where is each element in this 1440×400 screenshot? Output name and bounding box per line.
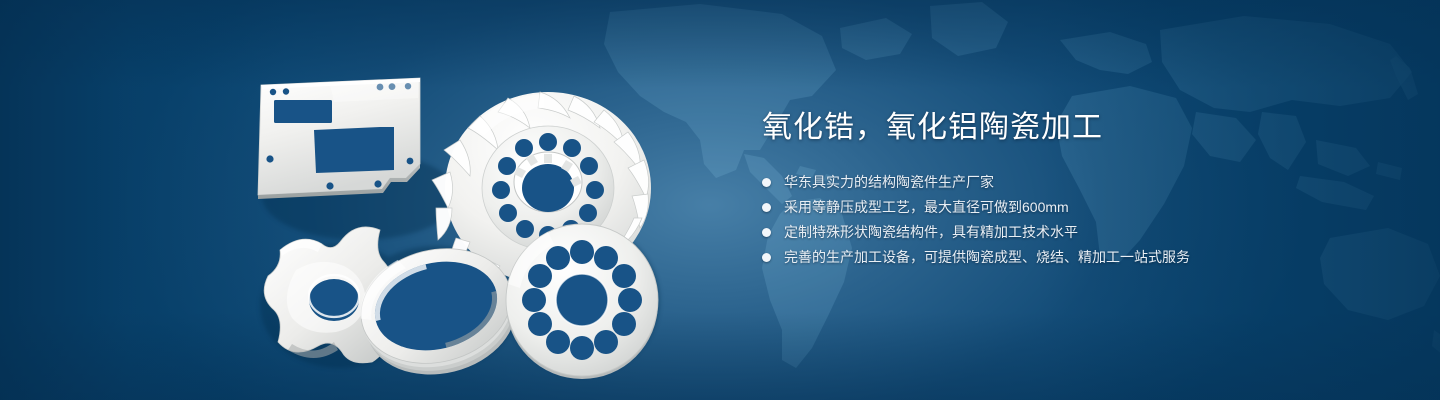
list-item-label: 定制特殊形状陶瓷结构件，具有精加工技术水平 <box>784 224 1078 240</box>
feature-list: 华东具实力的结构陶瓷件生产厂家 采用等静压成型工艺，最大直径可做到600mm 定… <box>762 172 1382 268</box>
list-item-label: 华东具实力的结构陶瓷件生产厂家 <box>784 174 994 190</box>
bullet-dot-icon <box>762 178 771 187</box>
bullet-dot-icon <box>762 253 771 262</box>
list-item-label: 完善的生产加工设备，可提供陶瓷成型、烧结、精加工一站式服务 <box>784 249 1190 265</box>
list-item: 华东具实力的结构陶瓷件生产厂家 <box>762 172 1382 193</box>
list-item: 定制特殊形状陶瓷结构件，具有精加工技术水平 <box>762 222 1382 243</box>
page-title: 氧化锆，氧化铝陶瓷加工 <box>762 108 1382 148</box>
product-photo <box>230 38 690 383</box>
list-item-label: 采用等静压成型工艺，最大直径可做到600mm <box>784 199 1069 215</box>
ceramic-perforated-disc-part <box>506 224 658 379</box>
list-item: 完善的生产加工设备，可提供陶瓷成型、烧结、精加工一站式服务 <box>762 247 1382 268</box>
ceramic-plate-part <box>258 78 420 199</box>
copy-block: 氧化锆，氧化铝陶瓷加工 华东具实力的结构陶瓷件生产厂家 采用等静压成型工艺，最大… <box>762 108 1382 272</box>
bullet-dot-icon <box>762 203 771 212</box>
bullet-dot-icon <box>762 228 771 237</box>
hero-banner: 氧化锆，氧化铝陶瓷加工 华东具实力的结构陶瓷件生产厂家 采用等静压成型工艺，最大… <box>0 0 1440 400</box>
list-item: 采用等静压成型工艺，最大直径可做到600mm <box>762 197 1382 218</box>
